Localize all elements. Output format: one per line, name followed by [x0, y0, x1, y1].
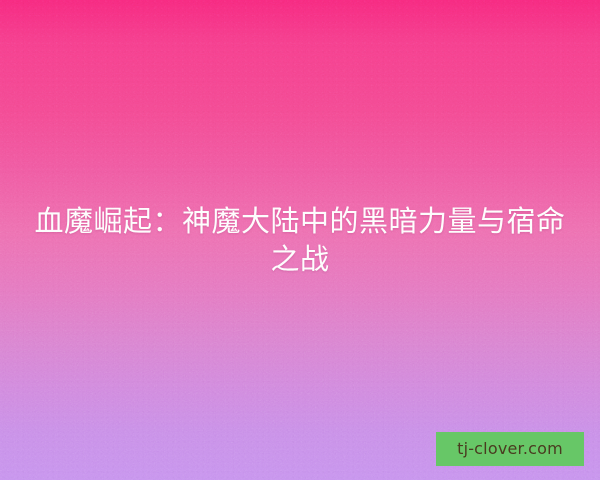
banner-image: 血魔崛起：神魔大陆中的黑暗力量与宿命之战 tj-clover.com [0, 0, 600, 480]
watermark-label: tj-clover.com [457, 441, 563, 457]
page-title: 血魔崛起：神魔大陆中的黑暗力量与宿命之战 [26, 202, 574, 278]
watermark-badge[interactable]: tj-clover.com [436, 432, 584, 466]
title-block: 血魔崛起：神魔大陆中的黑暗力量与宿命之战 [0, 0, 600, 480]
